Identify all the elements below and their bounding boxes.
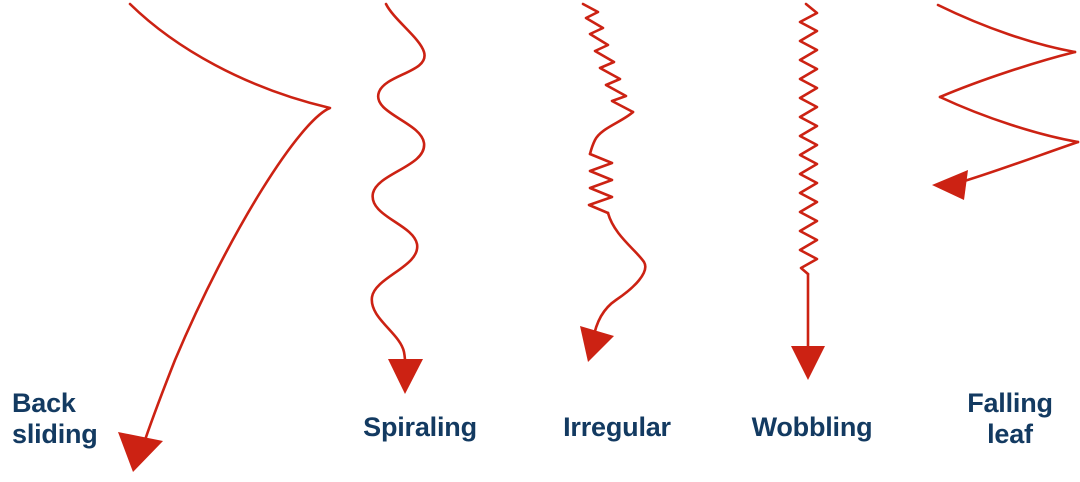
falling-leaf-sweep-2 bbox=[940, 52, 1075, 97]
trajectory-spiraling bbox=[372, 4, 425, 394]
label-spiraling: Spiraling bbox=[355, 412, 485, 443]
irregular-connector-lower bbox=[593, 213, 645, 340]
falling-leaf-sweep-1 bbox=[938, 5, 1075, 52]
label-wobbling: Wobbling bbox=[742, 412, 882, 443]
label-falling-leaf: Falling leaf bbox=[955, 388, 1065, 450]
wobbling-zigzag bbox=[800, 4, 817, 274]
irregular-zigzag-diagonal bbox=[583, 4, 633, 112]
irregular-arrowhead bbox=[580, 326, 614, 362]
trajectory-wobbling bbox=[791, 4, 825, 380]
trajectory-falling-leaf bbox=[932, 5, 1078, 200]
label-back-sliding: Back sliding bbox=[12, 388, 192, 450]
irregular-zigzag-vertical bbox=[589, 154, 612, 213]
spiraling-arrowhead bbox=[388, 359, 423, 394]
falling-leaf-arrowhead bbox=[932, 170, 968, 200]
trajectory-diagram: Back sliding Spiraling Irregular Wobblin… bbox=[0, 0, 1080, 482]
label-irregular: Irregular bbox=[552, 412, 682, 443]
falling-leaf-sweep-3 bbox=[940, 97, 1078, 142]
wobbling-arrowhead bbox=[791, 346, 825, 380]
falling-leaf-sweep-4 bbox=[958, 142, 1078, 183]
irregular-connector-upper bbox=[590, 112, 633, 154]
spiraling-path bbox=[372, 4, 425, 377]
trajectory-irregular bbox=[580, 4, 645, 362]
